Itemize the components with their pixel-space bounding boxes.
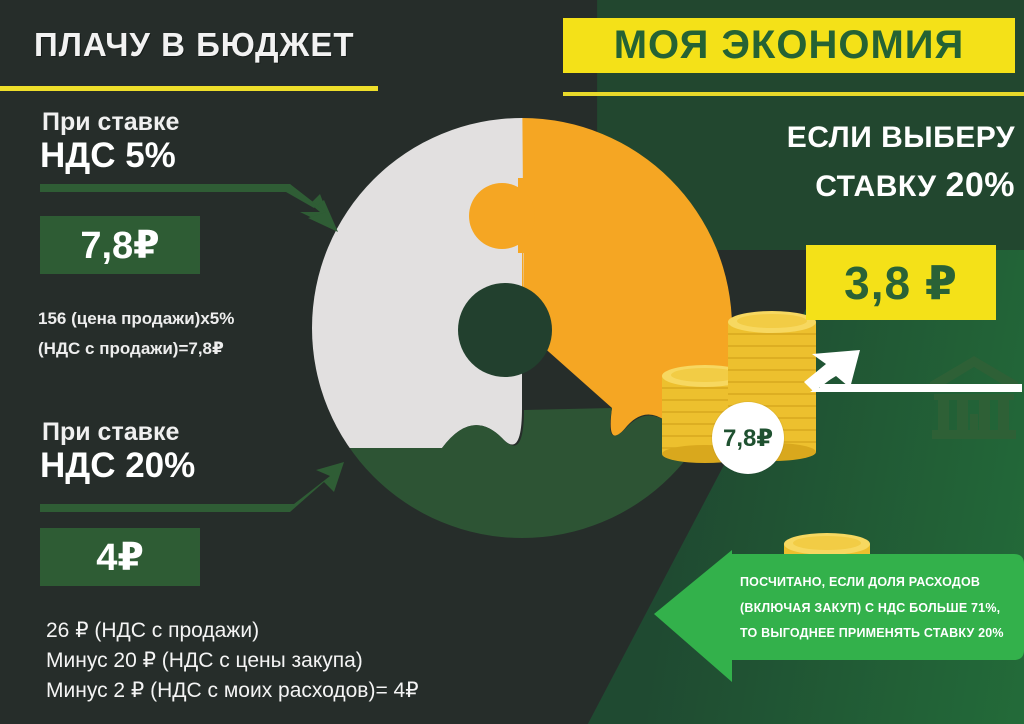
- callout-line-1: ПОСЧИТАНО, ЕСЛИ ДОЛЯ РАСХОДОВ: [740, 570, 1024, 596]
- rate2-note-line-3: Минус 2 ₽ (НДС с моих расходов)= 4₽: [46, 676, 419, 706]
- circle-center-hole: [458, 283, 552, 377]
- right-subtitle-line-1: ЕСЛИ ВЫБЕРУ: [560, 115, 1015, 160]
- callout-box: ПОСЧИТАНО, ЕСЛИ ДОЛЯ РАСХОДОВ (ВКЛЮЧАЯ З…: [652, 548, 1024, 688]
- saving-value-box: 3,8 ₽: [806, 245, 996, 320]
- callout-line-3: ТО ВЫГОДНЕЕ ПРИМЕНЯТЬ СТАВКУ 20%: [740, 621, 1024, 647]
- rate2-value: 4₽: [96, 535, 144, 580]
- rate2-value-box: 4₽: [40, 528, 200, 586]
- right-subtitle-line-2-pre: СТАВКУ: [815, 170, 945, 203]
- right-title-underline: [563, 92, 1024, 96]
- rate1-value: 7,8₽: [80, 223, 159, 268]
- rate1-label-big: НДС 5%: [40, 136, 176, 176]
- right-subtitle-line-2: СТАВКУ 20%: [560, 160, 1015, 211]
- rate2-note-line-1: 26 ₽ (НДС с продажи): [46, 616, 259, 646]
- saving-value: 3,8 ₽: [844, 256, 958, 310]
- right-section-title-badge: МОЯ ЭКОНОМИЯ: [563, 18, 1015, 73]
- infographic-canvas: 7,8₽ 4₽ ПЛАЧУ В БЮДЖЕТ МОЯ ЭКОНОМИЯ ЕСЛИ…: [0, 0, 1024, 724]
- rate2-note-line-2: Минус 20 ₽ (НДС с цены закупа): [46, 646, 363, 676]
- rate1-note-line-2: (НДС с продажи)=7,8₽: [38, 336, 224, 362]
- callout-line-2: (ВКЛЮЧАЯ ЗАКУП) С НДС БОЛЬШЕ 71%,: [740, 596, 1024, 622]
- rate1-note-line-1: 156 (цена продажи)x5%: [38, 306, 234, 332]
- right-subtitle: ЕСЛИ ВЫБЕРУ СТАВКУ 20%: [560, 115, 1024, 211]
- arrow-left-white: [766, 348, 1024, 396]
- right-subtitle-rate: 20%: [945, 166, 1015, 204]
- left-section-title: ПЛАЧУ В БЮДЖЕТ: [34, 26, 355, 64]
- left-title-underline: [0, 86, 378, 91]
- rate1-value-box: 7,8₽: [40, 216, 200, 274]
- rate2-label-small: При ставке: [42, 418, 179, 447]
- arrow-up-right-2: [38, 460, 348, 518]
- sector-gray: [312, 108, 522, 448]
- right-section-title: МОЯ ЭКОНОМИЯ: [614, 23, 965, 68]
- callout-text: ПОСЧИТАНО, ЕСЛИ ДОЛЯ РАСХОДОВ (ВКЛЮЧАЯ З…: [740, 570, 1024, 647]
- badge-value-78-label: 7,8₽: [723, 424, 773, 453]
- rate1-label-small: При ставке: [42, 108, 179, 137]
- badge-value-78: 7,8₽: [712, 402, 784, 474]
